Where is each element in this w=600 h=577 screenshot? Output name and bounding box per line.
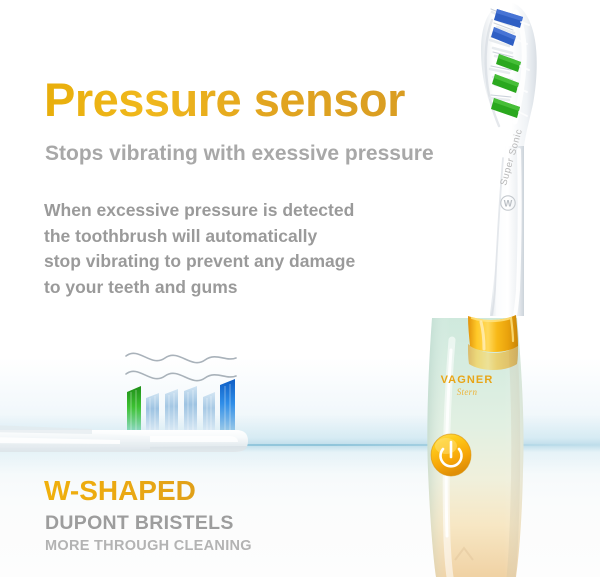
description-line: When excessive pressure is detected [44, 198, 355, 224]
handle-collar [468, 315, 518, 370]
page-title: Pressure sensor [44, 72, 405, 127]
description-line: to your teeth and gums [44, 275, 355, 301]
description-block: When excessive pressure is detected the … [44, 198, 355, 300]
bristle-heading: W-SHAPED [44, 475, 196, 507]
brush-handle: VAGNER Stern [420, 310, 540, 577]
description-line: stop vibrating to prevent any damage [44, 249, 355, 275]
brush-neck: Super Sonic W [490, 128, 525, 316]
brand-script: Stern [457, 387, 478, 397]
bristle-subheading: DUPONT BRISTELS [45, 512, 234, 535]
bristle-caption: MORE THROUGH CLEANING [45, 538, 252, 554]
brand-wordmark: VAGNER [441, 374, 494, 386]
infographic-canvas: Super Sonic W [0, 0, 600, 577]
page-subtitle: Stops vibrating with exessive pressure [45, 142, 434, 166]
description-line: the toothbrush will automatically [44, 224, 355, 250]
logo-letter: W [504, 198, 513, 208]
power-button[interactable] [431, 434, 471, 476]
